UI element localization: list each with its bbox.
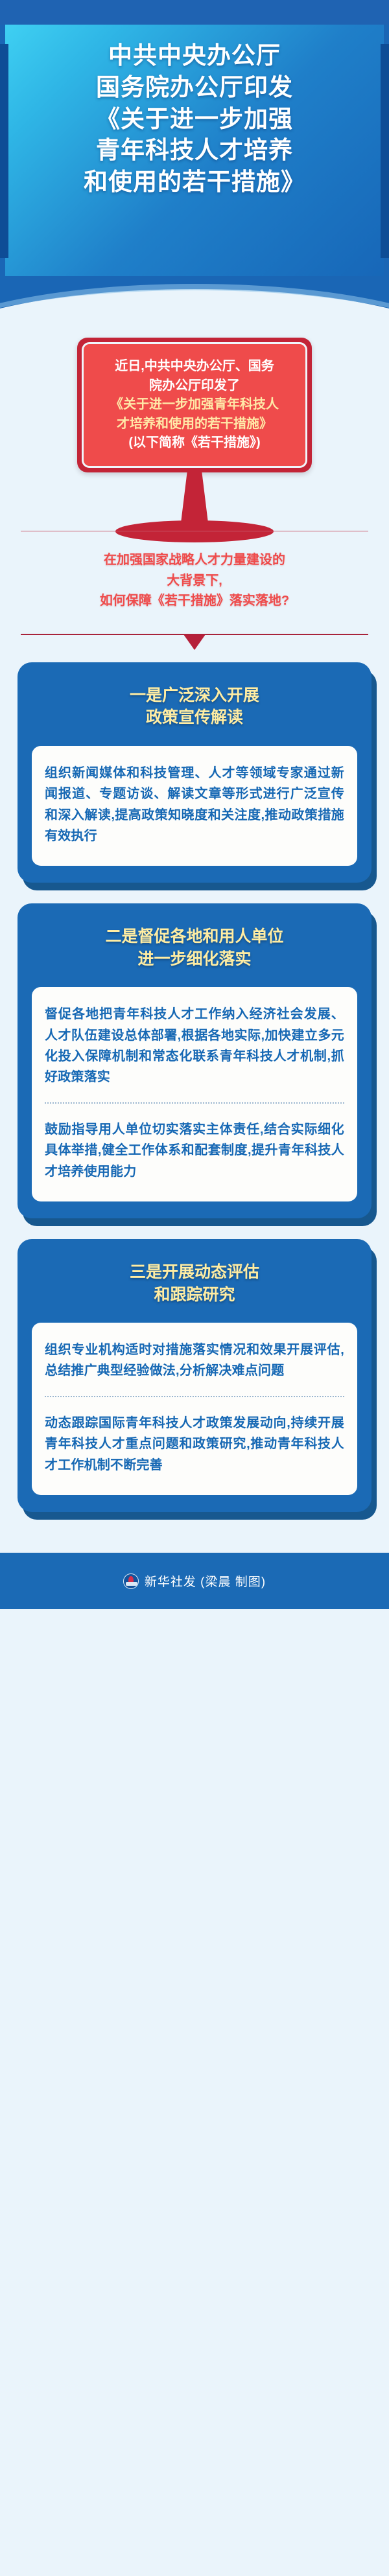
section-two-heading: 二是督促各地和用人单位 进一步细化落实 <box>32 923 357 987</box>
paragraph-dotted-separator <box>45 1396 344 1397</box>
section-one-card: 组织新闻媒体和科技管理、人才等领域专家通过新闻报道、专题访谈、解读文章等形式进行… <box>32 746 357 866</box>
hero-curved-skirt <box>0 276 389 327</box>
title-line-4: 青年科技人才培养 <box>0 135 389 167</box>
question-line-1: 在加强国家战略人才力量建设的 <box>0 550 389 571</box>
lead-line-4: 才培养和使用的若干措施》 <box>94 415 295 434</box>
chevron-down-icon <box>183 634 206 650</box>
section-divider <box>0 629 389 662</box>
title-line-5: 和使用的若干措施》 <box>0 167 389 198</box>
section-three-heading-line-2: 和跟踪研究 <box>32 1284 357 1306</box>
infographic-page: 中共中央办公厅 国务院办公厅印发 《关于进一步加强 青年科技人才培养 和使用的若… <box>0 0 389 2576</box>
lead-line-3: 《关于进一步加强青年科技人 <box>94 395 295 415</box>
section-one-heading: 一是广泛深入开展 政策宣传解读 <box>32 682 357 746</box>
section-three-heading: 三是开展动态评估 和跟踪研究 <box>32 1259 357 1323</box>
hero-banner: 中共中央办公厅 国务院办公厅印发 《关于进一步加强 青年科技人才培养 和使用的若… <box>0 0 389 327</box>
question-line-3: 如何保障《若干措施》落实落地? <box>0 591 389 612</box>
section-one-heading-line-1: 一是广泛深入开展 <box>32 684 357 707</box>
question-line-2: 大背景下, <box>0 571 389 592</box>
section-one-heading-line-2: 政策宣传解读 <box>32 706 357 729</box>
section-two-paragraph-2: 鼓励指导用人单位切实落实主体责任,结合实际细化具体举措,健全工作体系和配套制度,… <box>45 1119 344 1182</box>
section-one: 一是广泛深入开展 政策宣传解读 组织新闻媒体和科技管理、人才等领域专家通过新闻报… <box>18 662 371 883</box>
title-line-2: 国务院办公厅印发 <box>0 72 389 104</box>
title-line-3: 《关于进一步加强 <box>0 104 389 135</box>
lead-line-2: 院办公厅印发了 <box>94 377 295 396</box>
section-two-heading-line-1: 二是督促各地和用人单位 <box>32 925 357 948</box>
section-three-body: 三是开展动态评估 和跟踪研究 组织专业机构适时对措施落实情况和效果开展评估,总结… <box>18 1239 371 1512</box>
section-three-paragraph-1: 组织专业机构适时对措施落实情况和效果开展评估,总结推广典型经验做法,分析解决难点… <box>45 1340 344 1382</box>
section-three-card: 组织专业机构适时对措施落实情况和效果开展评估,总结推广典型经验做法,分析解决难点… <box>32 1323 357 1495</box>
footer-credit: 新华社发 (梁晨 制图) <box>145 1572 266 1590</box>
footer-bar: 新华社发 (梁晨 制图) <box>0 1551 389 1609</box>
section-two-body: 二是督促各地和用人单位 进一步细化落实 督促各地把青年科技人才工作纳入经济社会发… <box>18 903 371 1218</box>
section-two-card: 督促各地把青年科技人才工作纳入经济社会发展、人才队伍建设总体部署,根据各地实际,… <box>32 987 357 1201</box>
section-three-heading-line-1: 三是开展动态评估 <box>32 1261 357 1284</box>
section-three-paragraph-2: 动态跟踪国际青年科技人才政策发展动向,持续开展青年科技人才重点问题和政策研究,推… <box>45 1413 344 1476</box>
lead-line-5: (以下简称《若干措施》) <box>94 434 295 453</box>
pedestal-rule <box>21 531 368 531</box>
footer-spacer <box>0 1533 389 1551</box>
lead-card-inner: 近日,中共中央办公厅、国务 院办公厅印发了 《关于进一步加强青年科技人 才培养和… <box>82 342 307 468</box>
section-two: 二是督促各地和用人单位 进一步细化落实 督促各地把青年科技人才工作纳入经济社会发… <box>18 903 371 1218</box>
pedestal-graphic <box>0 472 389 548</box>
section-one-paragraph-1: 组织新闻媒体和科技管理、人才等领域专家通过新闻报道、专题访谈、解读文章等形式进行… <box>45 763 344 847</box>
section-two-paragraph-1: 督促各地把青年科技人才工作纳入经济社会发展、人才队伍建设总体部署,根据各地实际,… <box>45 1004 344 1088</box>
title-line-1: 中共中央办公厅 <box>0 40 389 72</box>
paragraph-dotted-separator <box>45 1102 344 1104</box>
lead-line-1: 近日,中共中央办公厅、国务 <box>94 357 295 377</box>
hero-top-bar <box>0 0 389 25</box>
question-block: 在加强国家战略人才力量建设的 大背景下, 如何保障《若干措施》落实落地? <box>0 548 389 612</box>
section-two-heading-line-2: 进一步细化落实 <box>32 948 357 971</box>
section-one-body: 一是广泛深入开展 政策宣传解读 组织新闻媒体和科技管理、人才等领域专家通过新闻报… <box>18 662 371 883</box>
xinhua-logo-icon <box>123 1573 139 1589</box>
page-title: 中共中央办公厅 国务院办公厅印发 《关于进一步加强 青年科技人才培养 和使用的若… <box>0 40 389 198</box>
section-three: 三是开展动态评估 和跟踪研究 组织专业机构适时对措施落实情况和效果开展评估,总结… <box>18 1239 371 1512</box>
lead-card-wrapper: 近日,中共中央办公厅、国务 院办公厅印发了 《关于进一步加强青年科技人 才培养和… <box>0 327 389 472</box>
pedestal-base <box>115 520 274 542</box>
lead-card: 近日,中共中央办公厅、国务 院办公厅印发了 《关于进一步加强青年科技人 才培养和… <box>77 338 312 472</box>
